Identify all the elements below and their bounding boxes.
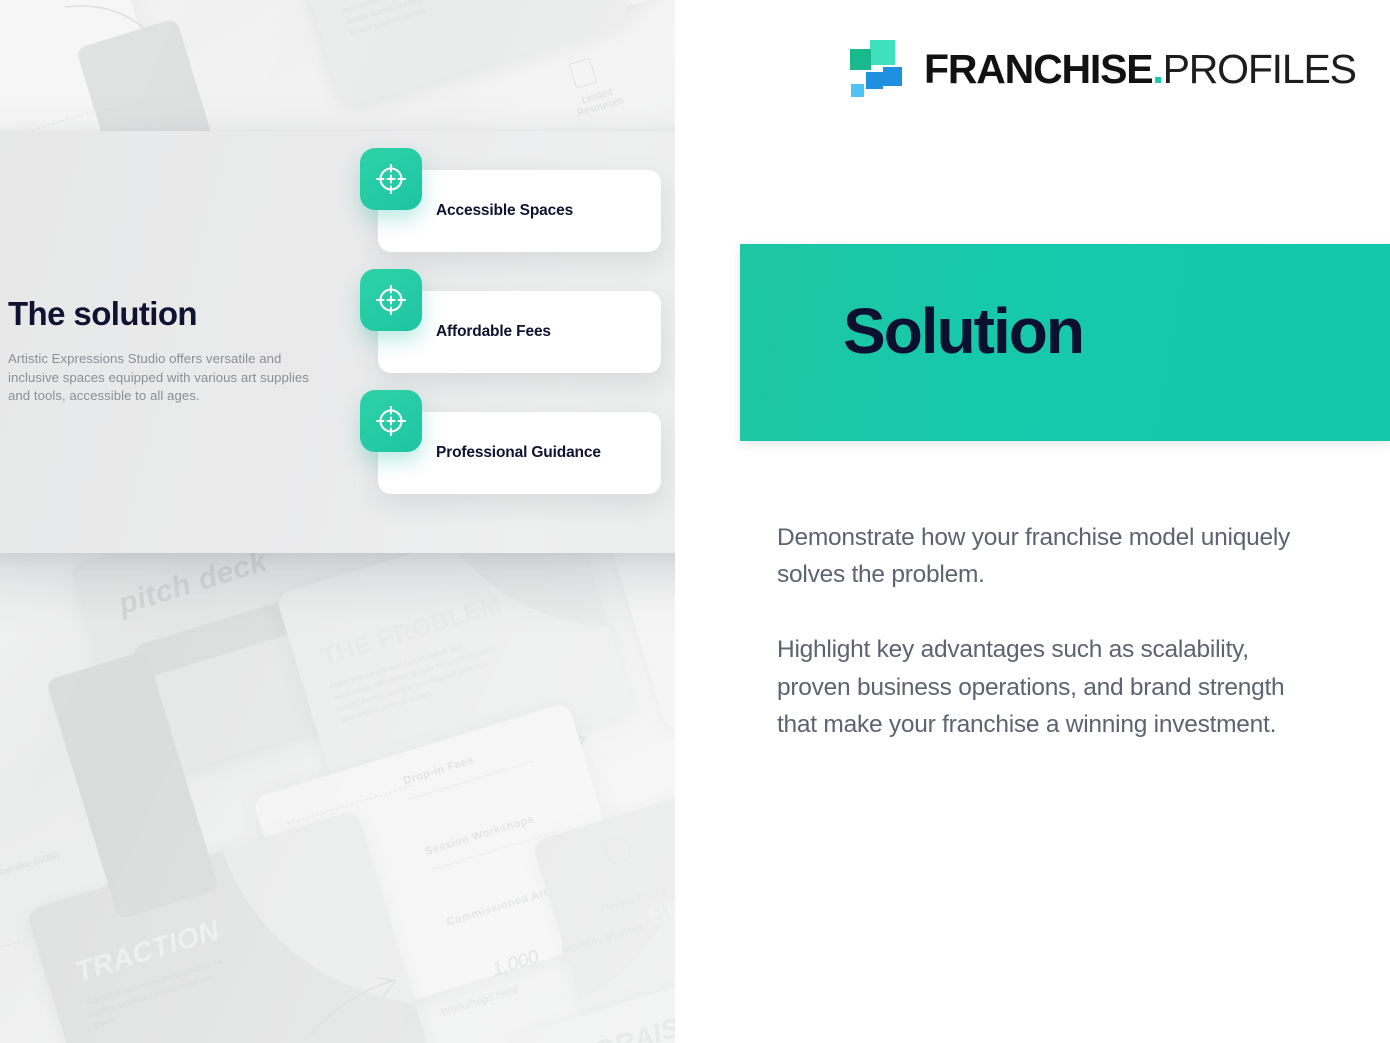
right-content-pane: FRANCHISE.PROFILES Solution Demonstrate … — [675, 0, 1390, 1043]
slide-description: Artistic Expressions Studio offers versa… — [8, 350, 328, 406]
logo-wordmark: FRANCHISE.PROFILES — [924, 49, 1356, 90]
slide-title: The solution — [8, 295, 197, 333]
page-title: Solution — [843, 299, 1083, 363]
brand-logo[interactable]: FRANCHISE.PROFILES — [850, 40, 1356, 98]
body-paragraph-1: Demonstrate how your franchise model uni… — [777, 519, 1307, 593]
crosshair-icon — [360, 148, 422, 210]
crosshair-icon — [360, 269, 422, 331]
crosshair-icon — [360, 390, 422, 452]
logo-word-bold: FRANCHISE — [924, 46, 1152, 92]
body-copy: Demonstrate how your franchise model uni… — [777, 519, 1307, 743]
solution-slide-preview[interactable]: The solution Artistic Expressions Studio… — [0, 131, 742, 553]
body-paragraph-2: Highlight key advantages such as scalabi… — [777, 631, 1307, 743]
logo-dot: . — [1152, 46, 1162, 92]
section-banner: Solution — [740, 244, 1390, 441]
logo-mark-icon — [850, 40, 902, 98]
logo-word-light: PROFILES — [1163, 46, 1356, 92]
